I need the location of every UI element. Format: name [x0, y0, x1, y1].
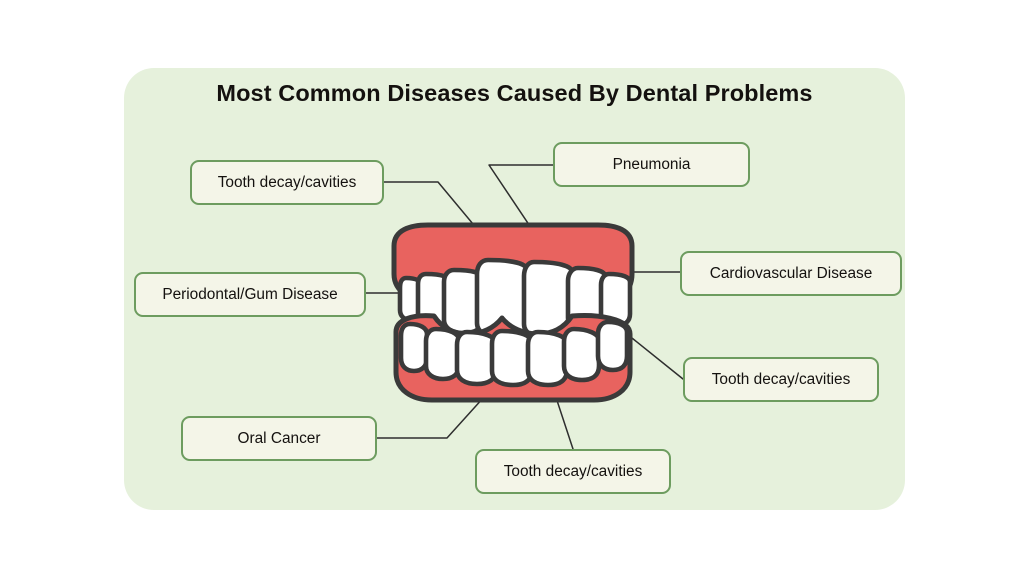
label-text: Tooth decay/cavities [504, 464, 643, 479]
label-oral-cancer[interactable]: Oral Cancer [181, 416, 377, 461]
lower-tooth-premolar-left [426, 329, 459, 379]
label-tooth-decay-right[interactable]: Tooth decay/cavities [683, 357, 879, 402]
label-text: Tooth decay/cavities [712, 372, 851, 387]
lower-tooth-molar-right [598, 322, 627, 370]
lower-tooth-molar-left [401, 324, 427, 371]
lower-tooth-premolar-right [564, 329, 599, 380]
label-pneumonia[interactable]: Pneumonia [553, 142, 750, 187]
label-periodontal-gum-disease[interactable]: Periodontal/Gum Disease [134, 272, 366, 317]
lower-teeth [401, 322, 627, 385]
label-cardiovascular-disease[interactable]: Cardiovascular Disease [680, 251, 902, 296]
label-text: Tooth decay/cavities [218, 175, 357, 190]
label-text: Pneumonia [613, 157, 691, 172]
label-text: Cardiovascular Disease [710, 266, 873, 281]
teeth-illustration [382, 216, 644, 416]
label-tooth-decay-upper-left[interactable]: Tooth decay/cavities [190, 160, 384, 205]
label-tooth-decay-bottom[interactable]: Tooth decay/cavities [475, 449, 671, 494]
label-text: Periodontal/Gum Disease [162, 287, 337, 302]
diagram-canvas: Most Common Diseases Caused By Dental Pr… [0, 0, 1024, 576]
page-title: Most Common Diseases Caused By Dental Pr… [124, 80, 905, 107]
lower-denture [396, 316, 630, 400]
label-text: Oral Cancer [238, 431, 321, 446]
lower-tooth-incisor-center-right [528, 332, 567, 385]
